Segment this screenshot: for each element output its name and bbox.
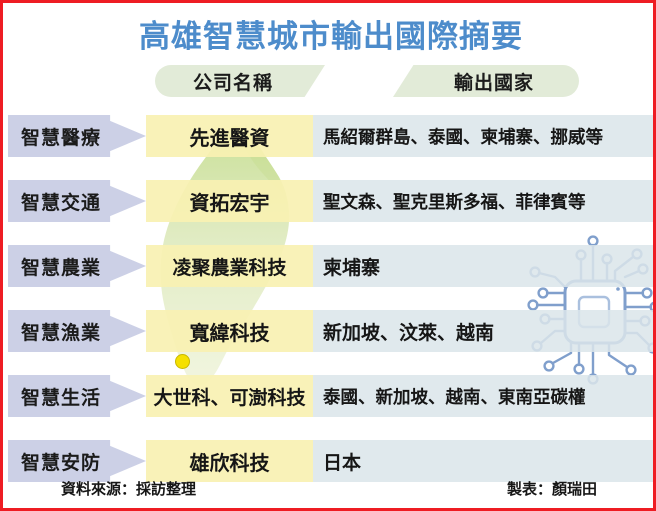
table-row: 智慧漁業 寬緯科技 新加坡、汶萊、越南 [3, 310, 656, 352]
row-countries: 泰國、新加坡、越南、東南亞碳權 [313, 375, 653, 417]
row-category: 智慧交通 [8, 180, 146, 222]
kaohsiung-location-dot [175, 354, 190, 369]
row-company: 大世科、可澍科技 [146, 375, 313, 417]
table-row: 智慧生活 大世科、可澍科技 泰國、新加坡、越南、東南亞碳權 [3, 375, 656, 417]
row-countries: 新加坡、汶萊、越南 [313, 310, 653, 352]
row-company: 凌聚農業科技 [146, 245, 313, 287]
page-title: 高雄智慧城市輸出國際摘要 [3, 11, 656, 56]
row-category: 智慧農業 [8, 245, 146, 287]
footer-author: 製表：顏瑞田 [507, 478, 597, 499]
footer-source: 資料來源：採訪整理 [61, 478, 196, 499]
row-category: 智慧漁業 [8, 310, 146, 352]
table-row: 智慧醫療 先進醫資 馬紹爾群島、泰國、柬埔寨、挪威等 [3, 115, 656, 157]
row-countries: 聖文森、聖克里斯多福、菲律賓等 [313, 180, 653, 222]
row-company: 寬緯科技 [146, 310, 313, 352]
header-company-name: 公司名稱 [155, 65, 325, 97]
table-row: 智慧農業 凌聚農業科技 柬埔寨 [3, 245, 656, 287]
row-countries: 柬埔寨 [313, 245, 653, 287]
header-export-countries: 輸出國家 [393, 65, 579, 97]
row-countries: 馬紹爾群島、泰國、柬埔寨、挪威等 [313, 115, 653, 157]
row-company: 資拓宏宇 [146, 180, 313, 222]
row-company: 先進醫資 [146, 115, 313, 157]
row-category: 智慧安防 [8, 440, 146, 482]
table-row: 智慧交通 資拓宏宇 聖文森、聖克里斯多福、菲律賓等 [3, 180, 656, 222]
row-countries: 日本 [313, 440, 653, 482]
row-category: 智慧醫療 [8, 115, 146, 157]
table-row: 智慧安防 雄欣科技 日本 [3, 440, 656, 482]
row-category: 智慧生活 [8, 375, 146, 417]
infographic-page: 高雄智慧城市輸出國際摘要 公司名稱 輸出國家 [0, 0, 656, 511]
row-company: 雄欣科技 [146, 440, 313, 482]
